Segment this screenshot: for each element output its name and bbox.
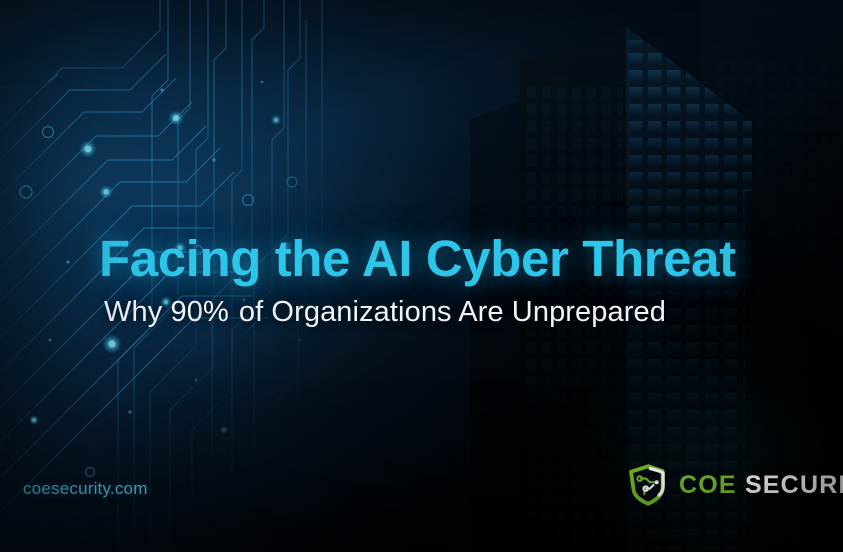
subtitle-suffix: of Organizations Are Unprepared (231, 296, 666, 328)
slide-canvas: Facing the AI Cyber Threat Why 90% of Or… (0, 0, 843, 552)
subtitle-prefix: Why (104, 296, 170, 328)
brand-name-secondary: SECURITY (745, 471, 843, 499)
brand-name-secondary-space (737, 471, 745, 499)
brand-logo[interactable]: COE SECURITY (626, 461, 843, 509)
subtitle-statistic: 90 (170, 296, 202, 328)
shield-circuit-icon (626, 463, 670, 507)
subtitle-percent-sign: % (203, 296, 231, 328)
page-subtitle: Why 90% of Organizations Are Unprepared (104, 296, 666, 329)
website-url[interactable]: coesecurity.com (23, 479, 148, 499)
brand-name-primary: COE (679, 471, 737, 499)
page-title: Facing the AI Cyber Threat (99, 229, 736, 288)
brand-wordmark: COE SECURITY (679, 473, 843, 498)
